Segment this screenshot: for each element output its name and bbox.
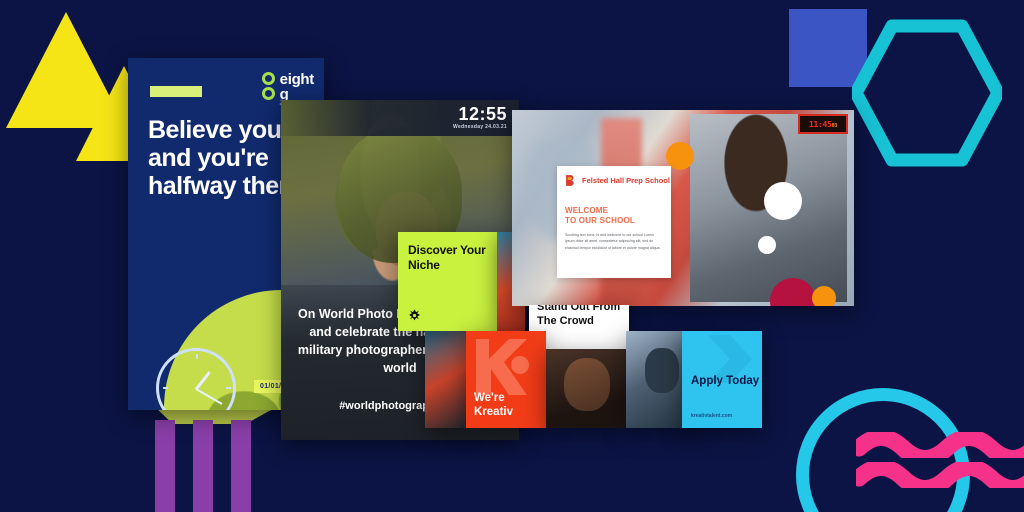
logo-line1: eight [280,72,314,87]
pink-wave-line-bottom-icon [856,462,1024,488]
clock-date: Wednesday 24.03.21 [453,124,507,130]
led-clock-widget: 11:45 03 [798,114,848,134]
teal-hexagon-outline-icon [852,18,1002,168]
orange-dot-small-shape [812,286,836,306]
white-dot-shape [764,182,802,220]
screen-discover-your-niche[interactable]: Discover Your Niche [398,232,497,331]
purple-bars-group [155,420,279,512]
logo-rings-icon [262,72,275,100]
signage-collage-canvas: eight g digital signage Believe you can … [0,0,1024,512]
school-crest-icon [565,174,578,188]
stand-out-title: Stand Out From The Crowd [537,305,629,329]
apply-title: Apply Today [691,375,759,389]
kreativ-k-logo-icon [468,335,540,399]
screen-sliver-left-photo[interactable] [425,331,466,428]
school-logo: Felsted Hall Prep School [565,174,670,188]
welcome-line1: WELCOME [565,206,635,216]
pink-wave-line-top-icon [856,432,1024,458]
clock-time: 12:55 [458,104,507,125]
school-name: Felsted Hall Prep School [582,176,670,185]
screen-were-kreativ[interactable]: We're Kreativ [466,331,546,428]
accent-rule [150,86,202,97]
screen-portrait-photo[interactable] [546,349,626,428]
white-dot-small-shape [758,236,776,254]
school-info-card: Felsted Hall Prep School WELCOME TO OUR … [557,166,671,278]
discover-title: Discover Your Niche [408,243,497,272]
screen-apply-today[interactable]: Apply Today kreativtalent.com [682,331,762,428]
apply-url: kreativtalent.com [691,413,732,419]
led-clock-time: 11:45 [809,120,832,129]
screen-school-welcome[interactable]: Felsted Hall Prep School WELCOME TO OUR … [512,110,854,306]
kreativ-title: We're Kreativ [474,392,546,420]
led-clock-seconds: 03 [832,123,837,129]
school-body-text: Scrolling text zone. hi and welcome to o… [565,232,663,251]
welcome-line2: TO OUR SCHOOL [565,216,635,226]
kreativ-mark-icon [408,309,421,322]
school-welcome-heading: WELCOME TO OUR SCHOOL [565,206,635,227]
